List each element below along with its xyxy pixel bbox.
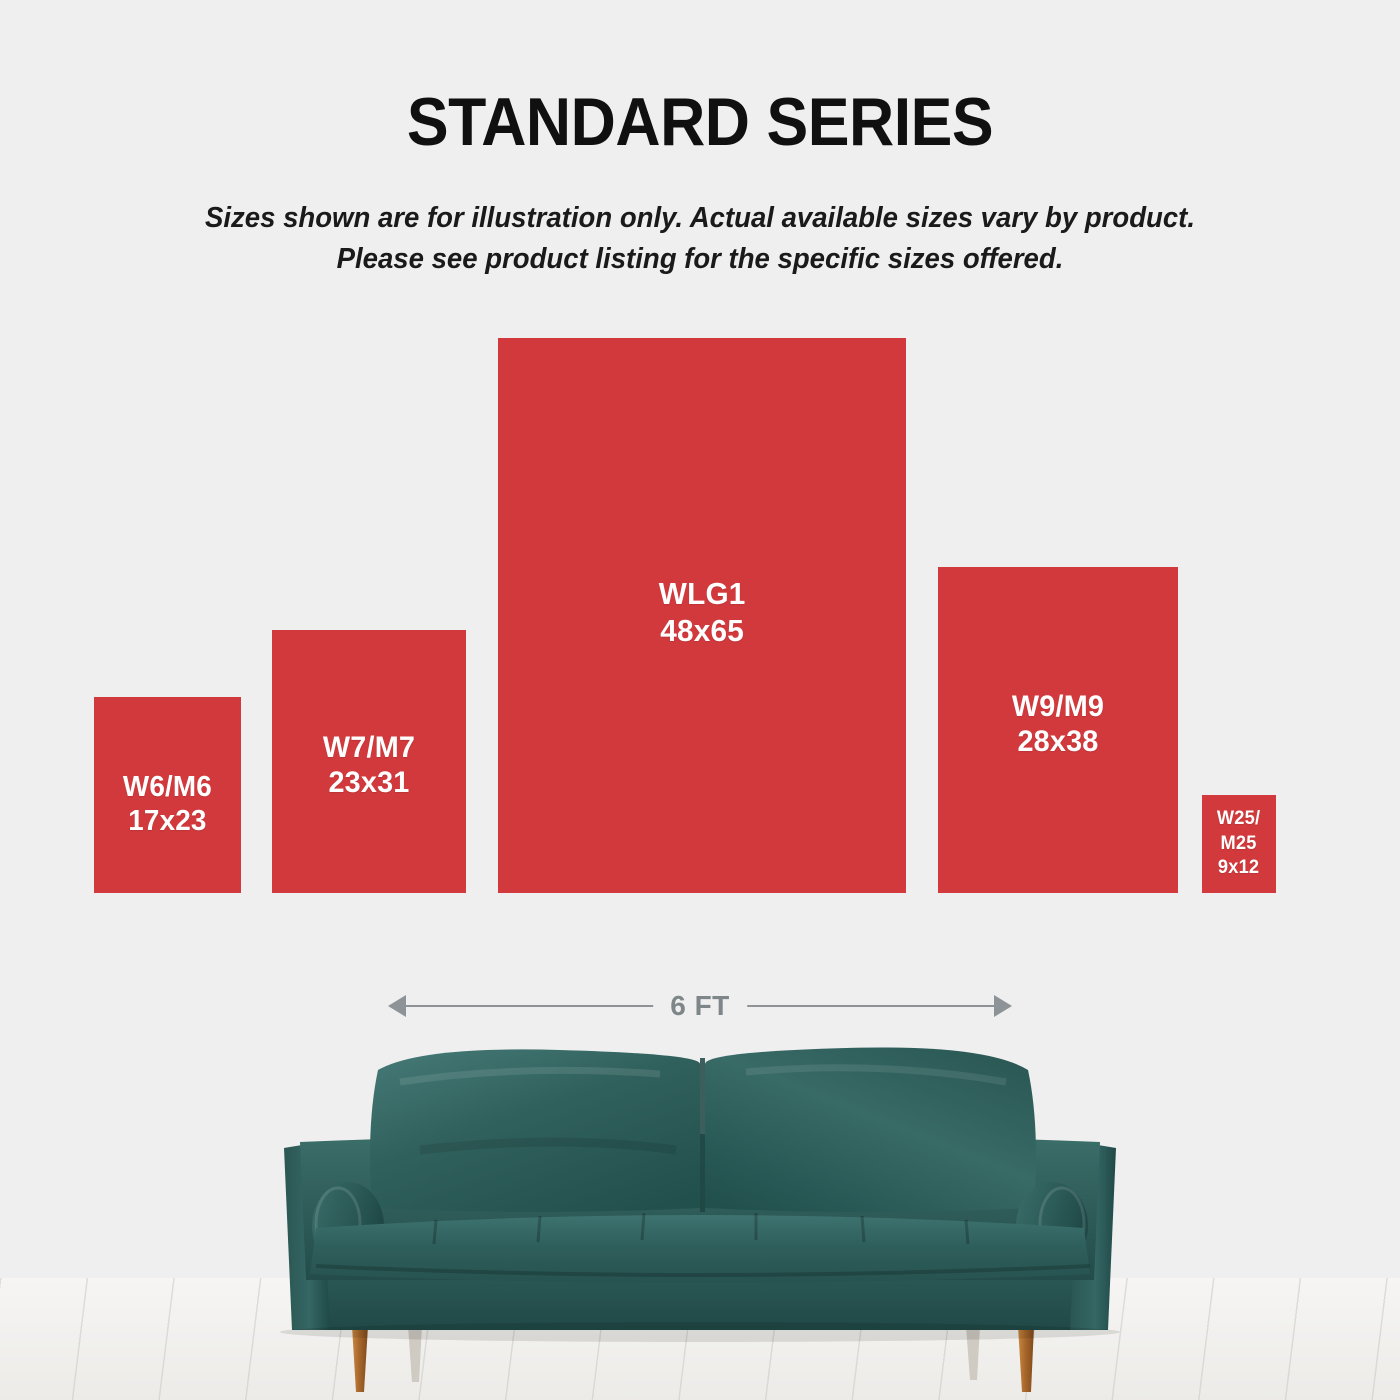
dimension-label: 6 FT xyxy=(653,985,747,1027)
frame-size: 28x38 xyxy=(1012,724,1104,759)
frame-name: WLG1 xyxy=(659,576,746,613)
sofa-scene xyxy=(0,1030,1400,1400)
sofa-illustration xyxy=(0,1030,1400,1400)
size-comparison-graphic: STANDARD SERIES Sizes shown are for illu… xyxy=(0,0,1400,1400)
frame-name-line-2: M25 xyxy=(1217,832,1260,857)
frame-size-swatches: W6/M6 17x23 W7/M7 23x31 WLG1 48x65 W9/M9… xyxy=(0,0,1400,920)
frame-swatch-w25-m25[interactable]: W25/ M25 9x12 xyxy=(1202,795,1276,893)
frame-size: 23x31 xyxy=(323,765,415,800)
frame-name: W6/M6 xyxy=(123,770,212,804)
frame-label-wlg1: WLG1 48x65 xyxy=(659,576,746,649)
frame-swatch-w9-m9[interactable]: W9/M9 28x38 xyxy=(938,567,1178,893)
frame-label-w9-m9: W9/M9 28x38 xyxy=(1012,689,1104,760)
frame-size: 17x23 xyxy=(123,804,212,838)
frame-name-line-1: W25/ xyxy=(1217,807,1260,832)
frame-label-w25-m25: W25/ M25 9x12 xyxy=(1217,807,1260,881)
frame-name: W7/M7 xyxy=(323,730,415,765)
frame-label-w6-m6: W6/M6 17x23 xyxy=(123,770,212,838)
frame-size: 48x65 xyxy=(659,613,746,650)
sofa-seat-cushion xyxy=(310,1215,1090,1283)
arrow-left-icon xyxy=(388,995,406,1017)
frame-swatch-wlg1[interactable]: WLG1 48x65 xyxy=(498,338,906,893)
frame-label-w7-m7: W7/M7 23x31 xyxy=(323,730,415,801)
frame-size: 9x12 xyxy=(1217,856,1260,881)
dimension-arrow-6ft: 6 FT xyxy=(388,986,1012,1026)
arrow-right-icon xyxy=(994,995,1012,1017)
frame-swatch-w7-m7[interactable]: W7/M7 23x31 xyxy=(272,630,466,893)
frame-swatch-w6-m6[interactable]: W6/M6 17x23 xyxy=(94,697,241,893)
frame-name: W9/M9 xyxy=(1012,689,1104,724)
